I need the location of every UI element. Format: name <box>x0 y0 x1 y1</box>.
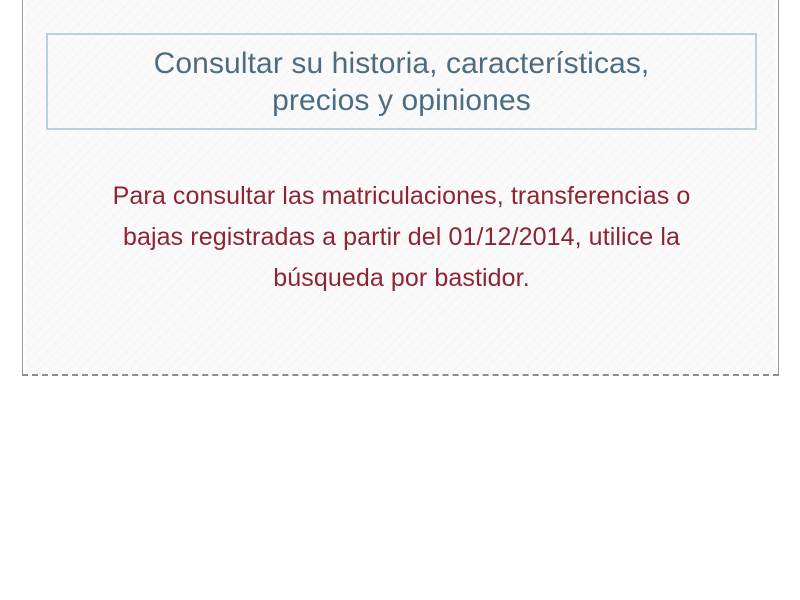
page-title: Consultar su historia, características, … <box>144 45 660 119</box>
content-card: Consultar su historia, características, … <box>22 0 779 376</box>
page-bottom-area <box>0 378 800 600</box>
title-panel: Consultar su historia, características, … <box>46 33 757 130</box>
notice-text: Para consultar las matriculaciones, tran… <box>46 176 757 299</box>
page-root: Consultar su historia, características, … <box>0 0 800 600</box>
